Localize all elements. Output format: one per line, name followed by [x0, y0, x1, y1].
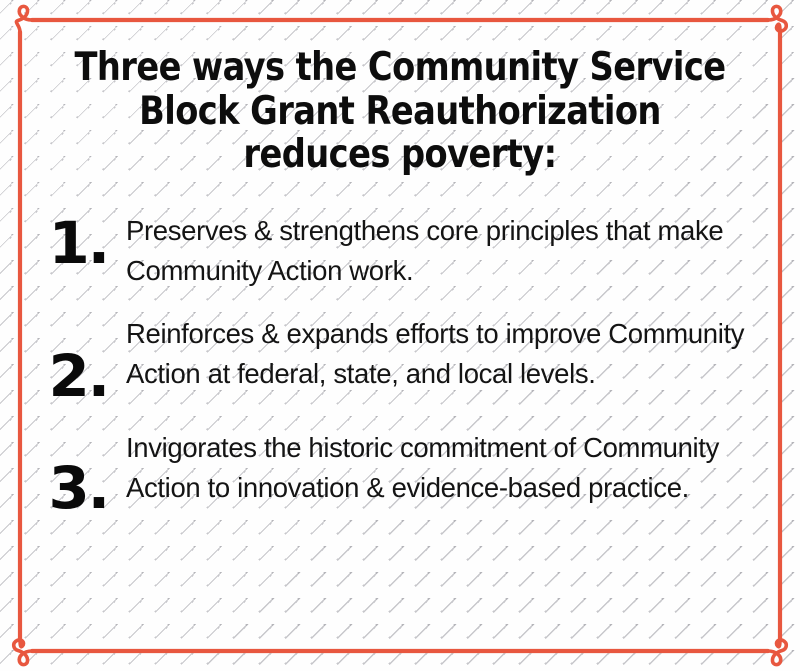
headline-line-3: reduces poverty: — [60, 133, 740, 177]
point-number-2: 2. — [40, 348, 131, 406]
list-item: 3. Invigorates the historic commitment o… — [40, 426, 760, 516]
point-number-1: 1. — [40, 215, 131, 273]
point-number-3: 3. — [40, 460, 131, 518]
poster-graphic: Three ways the Community Service Block G… — [0, 0, 800, 671]
page-title: Three ways the Community Service Block G… — [54, 46, 745, 177]
points-list: 1. Preserves & strengthens core principl… — [40, 209, 760, 516]
list-item: 2. Reinforces & expands efforts to impro… — [40, 312, 760, 404]
headline-line-1: Three ways the Community Service — [60, 46, 740, 90]
list-item: 1. Preserves & strengthens core principl… — [40, 209, 760, 290]
headline-line-2: Block Grant Reauthorization — [60, 90, 740, 134]
point-text-1: Preserves & strengthens core principles … — [126, 209, 760, 290]
point-text-3: Invigorates the historic commitment of C… — [126, 426, 760, 507]
point-text-2: Reinforces & expands efforts to improve … — [126, 312, 760, 393]
poster-content: Three ways the Community Service Block G… — [0, 0, 800, 671]
